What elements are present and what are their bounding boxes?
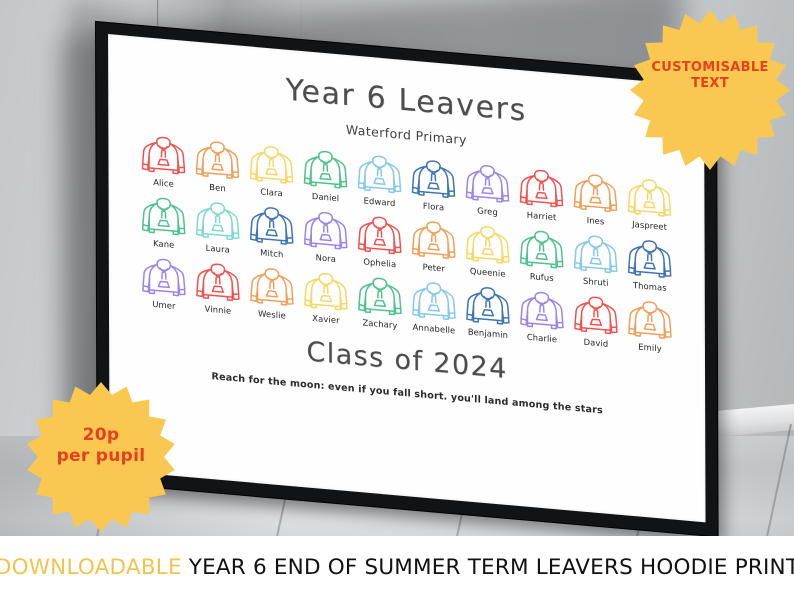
pupil-name: Benjamin (468, 327, 508, 341)
pupil-cell[interactable]: Clara (244, 143, 298, 200)
pupil-name: Charlie (527, 332, 557, 345)
hoodie-icon (194, 139, 240, 183)
hoodie-icon (303, 270, 349, 314)
pupil-name: Zachary (362, 317, 397, 330)
price-badge-line1: 20p (57, 425, 146, 446)
bottom-banner: DOWNLOADABLE YEAR 6 END OF SUMMER TERM L… (0, 536, 794, 596)
pupil-cell[interactable]: Flora (406, 157, 460, 214)
hoodie-icon (626, 176, 672, 220)
pupil-cell[interactable]: Xavier (299, 270, 353, 327)
screenshot-root: Year 6 Leavers Waterford Primary Alice (0, 0, 794, 596)
pupil-cell[interactable]: Emily (623, 298, 677, 355)
poster-artwork: Year 6 Leavers Waterford Primary Alice (108, 34, 706, 522)
poster-class-line: Class of 2024 (306, 336, 507, 385)
pupil-cell[interactable]: Jaspreet (622, 176, 676, 233)
pupil-name: Kane (153, 238, 174, 250)
hoodie-icon (141, 195, 187, 239)
pupil-name: Umer (152, 299, 175, 311)
poster-subtitle: Waterford Primary (346, 122, 467, 148)
price-badge-line2: per pupil (57, 446, 146, 467)
hoodie-icon (573, 294, 619, 338)
hoodie-icon (572, 172, 618, 216)
pupil-name: Queenie (470, 266, 506, 279)
banner-text: DOWNLOADABLE YEAR 6 END OF SUMMER TERM L… (0, 555, 794, 580)
pupil-cell[interactable]: Peter (407, 218, 461, 275)
pupil-cell[interactable]: Umer (137, 256, 191, 313)
pupil-name: Ophelia (363, 256, 396, 269)
hoodie-icon (411, 219, 457, 263)
pupil-cell[interactable]: Shruti (569, 232, 623, 289)
pupil-name: Laura (206, 243, 230, 255)
hoodie-icon (411, 280, 457, 324)
hoodie-icon (195, 261, 241, 305)
pupil-name: Xavier (312, 313, 339, 325)
pupil-cell[interactable]: Vinnie (191, 260, 245, 317)
pupil-cell[interactable]: Ophelia (353, 213, 407, 270)
hoodie-icon (465, 223, 511, 267)
pupil-cell[interactable]: Laura (191, 199, 245, 256)
pupil-cell[interactable]: Harriet (514, 167, 568, 224)
banner-main-text: YEAR 6 END OF SUMMER TERM LEAVERS HOODIE… (189, 555, 794, 580)
customisable-badge-text: CUSTOMISABLE TEXT (651, 60, 768, 92)
hoodie-icon (140, 134, 186, 178)
hoodie-icon (410, 158, 456, 202)
pupil-name: Edward (364, 195, 396, 208)
price-badge-text: 20p per pupil (57, 425, 146, 466)
poster-title: Year 6 Leavers (285, 76, 526, 127)
hoodie-icon (302, 148, 348, 192)
pupil-name: Annabelle (413, 322, 456, 336)
hoodie-icon (357, 214, 403, 258)
pupil-name: Mitch (260, 247, 283, 259)
pupil-name: Rufus (530, 271, 554, 283)
pupil-cell[interactable]: Alice (136, 134, 190, 191)
pupil-cell[interactable]: Nora (299, 209, 353, 266)
pupil-cell[interactable]: Greg (460, 162, 514, 219)
pupil-name: Nora (316, 252, 336, 264)
pupil-cell[interactable]: Ines (568, 171, 622, 228)
pupil-cell[interactable]: Daniel (298, 148, 352, 205)
pupil-name: Peter (423, 262, 445, 274)
hoodie-icon (465, 284, 511, 328)
banner-highlight-word: DOWNLOADABLE (0, 555, 182, 580)
hoodie-icon (195, 200, 241, 244)
pupil-name: Alice (153, 177, 174, 189)
pupil-cell[interactable]: Queenie (461, 223, 515, 280)
hoodie-icon (519, 289, 565, 333)
pupil-cell[interactable]: Benjamin (461, 284, 515, 341)
customisable-badge-line1: CUSTOMISABLE (651, 60, 768, 76)
pupil-cell[interactable]: Mitch (245, 204, 299, 261)
pupil-name: Weslie (258, 308, 286, 320)
picture-frame: Year 6 Leavers Waterford Primary Alice (96, 22, 718, 536)
pupil-hoodie-grid: Alice Ben (108, 131, 705, 357)
pupil-cell[interactable]: Annabelle (407, 279, 461, 336)
pupil-name: Emily (638, 341, 662, 353)
hoodie-icon (518, 167, 564, 211)
pupil-cell[interactable]: Thomas (623, 237, 677, 294)
price-badge: 20p per pupil (26, 382, 176, 510)
hoodie-icon (627, 237, 673, 281)
hoodie-icon (357, 275, 403, 319)
pupil-name: Ben (209, 182, 226, 193)
hoodie-icon (519, 228, 565, 272)
pupil-cell[interactable]: Ben (190, 138, 244, 195)
pupil-name: Vinnie (205, 304, 232, 316)
pupil-name: Greg (477, 205, 498, 217)
pupil-cell[interactable]: Edward (352, 152, 406, 209)
hoodie-icon (627, 298, 673, 342)
poster-quote: Reach for the moon: even if you fall sho… (212, 371, 603, 416)
pupil-name: Clara (260, 186, 282, 198)
pupil-cell[interactable]: Charlie (515, 289, 569, 346)
hoodie-icon (464, 162, 510, 206)
pupil-name: Thomas (633, 280, 667, 293)
hoodie-icon (248, 143, 294, 187)
customisable-text-badge: CUSTOMISABLE TEXT (630, 10, 790, 142)
pupil-cell[interactable]: Rufus (515, 228, 569, 285)
hoodie-icon (303, 209, 349, 253)
hoodie-icon (141, 256, 187, 300)
pupil-cell[interactable]: David (569, 293, 623, 350)
hoodie-icon (249, 265, 295, 309)
framed-poster[interactable]: Year 6 Leavers Waterford Primary Alice (96, 22, 718, 536)
customisable-badge-line2: TEXT (651, 76, 768, 92)
hoodie-icon (249, 204, 295, 248)
pupil-name: David (584, 337, 609, 349)
pupil-cell[interactable]: Zachary (353, 274, 407, 331)
pupil-name: Jaspreet (632, 219, 667, 232)
hoodie-icon (356, 153, 402, 197)
pupil-name: Shruti (583, 276, 609, 288)
pupil-cell[interactable]: Weslie (245, 265, 299, 322)
pupil-name: Flora (423, 201, 444, 213)
hoodie-icon (573, 233, 619, 277)
pupil-name: Daniel (312, 191, 339, 203)
pupil-name: Ines (587, 215, 605, 227)
pupil-name: Harriet (527, 210, 557, 223)
poster-mat: Year 6 Leavers Waterford Primary Alice (108, 34, 706, 522)
pupil-cell[interactable]: Kane (137, 195, 191, 252)
